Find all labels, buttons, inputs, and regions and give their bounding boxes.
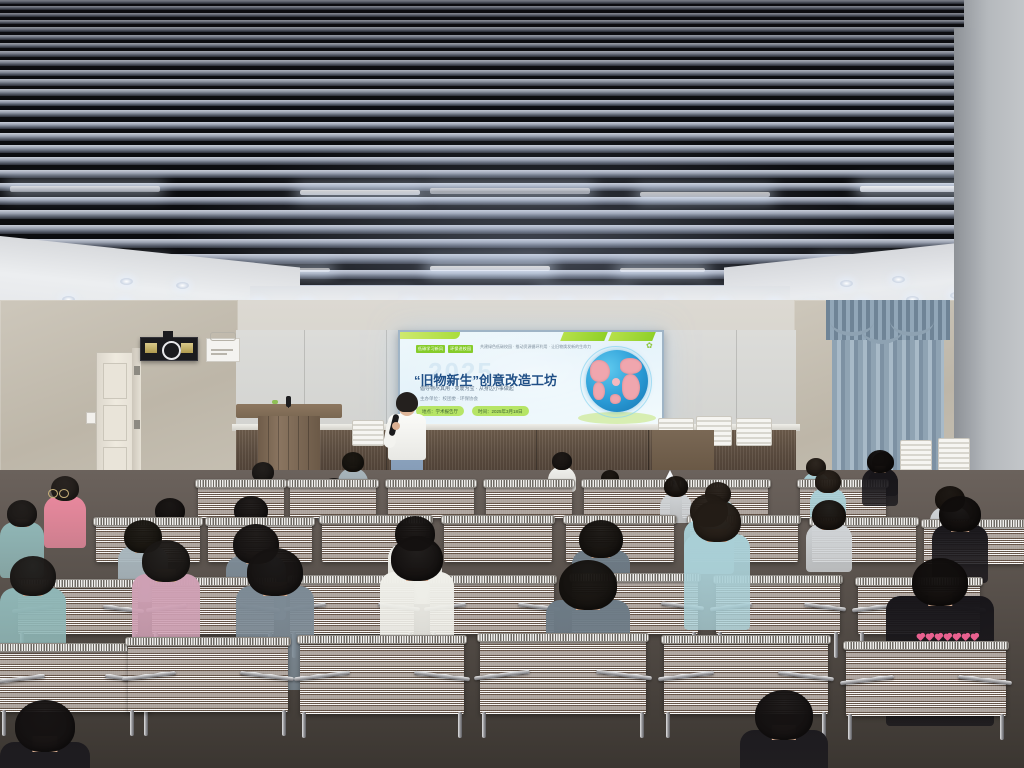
- ceiling-slat: [0, 89, 1024, 95]
- audience-member-head: [867, 450, 893, 473]
- recessed-downlight: [840, 280, 853, 287]
- audience-member-torso: [806, 524, 852, 572]
- ceiling-slat: [0, 110, 1024, 117]
- chair-leg: [640, 712, 644, 738]
- clock-left-mount: [163, 331, 173, 338]
- recessed-downlight: [120, 278, 133, 285]
- audience-member: [740, 690, 828, 768]
- presenter-hair: [396, 392, 418, 412]
- audience-member-torso: [44, 496, 86, 548]
- presenter-hand: [392, 422, 400, 430]
- ceiling-light-fixture: [640, 192, 770, 197]
- stacked-white-chairs-3: [736, 418, 772, 446]
- ceiling-light-fixture: [430, 188, 590, 194]
- audience-chair[interactable]: [444, 520, 552, 562]
- audience-member-head: [391, 536, 443, 581]
- chair-top-rail: [661, 635, 831, 644]
- slide-subtitle: 倡导物尽其用 · 变废为宝 · 从身边小事做起: [420, 385, 514, 392]
- chair-mesh-back: [444, 520, 552, 562]
- audience-member: [684, 500, 750, 638]
- ceiling-slat: [0, 100, 1024, 107]
- audience-member-head: [939, 496, 981, 532]
- chair-leg: [282, 710, 286, 736]
- audience-member-head: [552, 452, 572, 470]
- chair-leg: [302, 712, 306, 738]
- audience-member-head: [559, 560, 617, 610]
- audience-chair[interactable]: [486, 484, 572, 518]
- lecture-hall-photo: 低碳学习新风 环保进校园 共建绿色低碳校园 · 推动资源循环利用 · 让旧物焕发…: [0, 0, 1024, 768]
- recessed-downlight: [176, 282, 189, 289]
- audience-member: [806, 500, 852, 578]
- chair-top-rail: [441, 515, 555, 524]
- chair-top-rail: [287, 479, 379, 488]
- light-switch[interactable]: [86, 412, 96, 424]
- chair-top-rail: [297, 635, 467, 644]
- wall-sign-icon: [210, 332, 236, 341]
- ceiling-slat: [0, 122, 1024, 129]
- audience-member-head: [912, 558, 968, 606]
- wall-sign: [206, 338, 240, 362]
- chair-top-rail: [483, 479, 575, 488]
- audience-member-head: [579, 520, 623, 558]
- slide-deco-top2: [608, 332, 656, 341]
- ceiling-light-fixture: [620, 268, 705, 272]
- leaf-icon: ✿: [646, 342, 654, 350]
- ceiling-slat: [0, 145, 1024, 153]
- chair-leg: [834, 632, 838, 658]
- audience-member-torso: [862, 468, 898, 506]
- chair-leg: [1000, 714, 1004, 740]
- audience-member-head: [342, 452, 364, 472]
- audience-member-torso: [684, 534, 750, 630]
- slide-headline: 共建绿色低碳校园 · 推动资源循环利用 · 让旧物焕发新的生命力: [480, 344, 591, 350]
- stacked-white-chairs-4: [352, 420, 384, 446]
- audience-member-head: [755, 690, 813, 740]
- slide-deco-topleft: [400, 332, 460, 339]
- projection-screen[interactable]: 低碳学习新风 环保进校园 共建绿色低碳校园 · 推动资源循环利用 · 让旧物焕发…: [398, 330, 664, 434]
- earth-globe-icon: [586, 350, 648, 412]
- slide-deco-top1: [560, 332, 608, 341]
- slide-content: 低碳学习新风 环保进校园 共建绿色低碳校园 · 推动资源循环利用 · 让旧物焕发…: [400, 332, 662, 432]
- slide-pill-time: 时间：2025年3月18日: [472, 406, 529, 416]
- ceiling-slat: [0, 225, 1024, 234]
- audience-member-head: [142, 540, 190, 582]
- recessed-downlight: [892, 276, 905, 283]
- chair-top-rail: [385, 479, 477, 488]
- ceiling-light-fixture: [10, 186, 160, 192]
- audience-chair[interactable]: [300, 640, 464, 714]
- chair-mesh-back: [486, 484, 572, 518]
- lectern-green-object: [272, 400, 278, 404]
- audience-chair[interactable]: [846, 646, 1006, 716]
- audience-member: [0, 700, 90, 768]
- ceiling-slat: [0, 157, 1024, 165]
- ceiling-slat: [0, 170, 1024, 178]
- ceiling-slat: [0, 133, 1024, 140]
- audience-member: [44, 476, 86, 553]
- wall-clock-left: [140, 337, 198, 361]
- chair-leg: [666, 712, 670, 738]
- ceiling-light-fixture: [300, 190, 420, 195]
- chair-mesh-back: [388, 484, 474, 518]
- ceiling-slat: [0, 197, 1024, 205]
- chair-leg: [130, 710, 134, 736]
- audience-chair[interactable]: [584, 484, 670, 518]
- ceiling-slat: [0, 239, 1024, 248]
- lectern-microphone[interactable]: [286, 396, 291, 407]
- slide-tags: 低碳学习新风 环保进校园: [416, 345, 473, 353]
- audience-chair[interactable]: [388, 484, 474, 518]
- chair-top-rail: [843, 641, 1009, 650]
- audience-member-head: [815, 470, 841, 493]
- ceiling-slat: [0, 210, 1024, 219]
- audience-chair[interactable]: [480, 638, 646, 714]
- audience-member-head: [15, 700, 75, 752]
- chair-leg: [144, 710, 148, 736]
- audience-member-head: [247, 548, 303, 596]
- audience-member-head: [812, 500, 846, 530]
- audience-chair[interactable]: [128, 642, 288, 712]
- audience-member-head: [693, 500, 741, 542]
- chair-mesh-back: [290, 484, 376, 518]
- chair-leg: [482, 712, 486, 738]
- chair-mesh-back: [584, 484, 670, 518]
- audience-member-head: [7, 500, 37, 527]
- chair-leg: [848, 714, 852, 740]
- chair-top-rail: [125, 637, 291, 646]
- audience-member-head: [10, 556, 56, 596]
- audience-member: [862, 450, 898, 511]
- chair-top-rail: [195, 479, 287, 488]
- ceiling-light-fixture: [430, 266, 550, 271]
- slide-tag-0: 低碳学习新风: [416, 345, 445, 353]
- chair-leg: [458, 712, 462, 738]
- chair-top-rail: [477, 633, 649, 642]
- audience-chair[interactable]: [290, 484, 376, 518]
- slide-tag-1: 环保进校园: [448, 345, 473, 353]
